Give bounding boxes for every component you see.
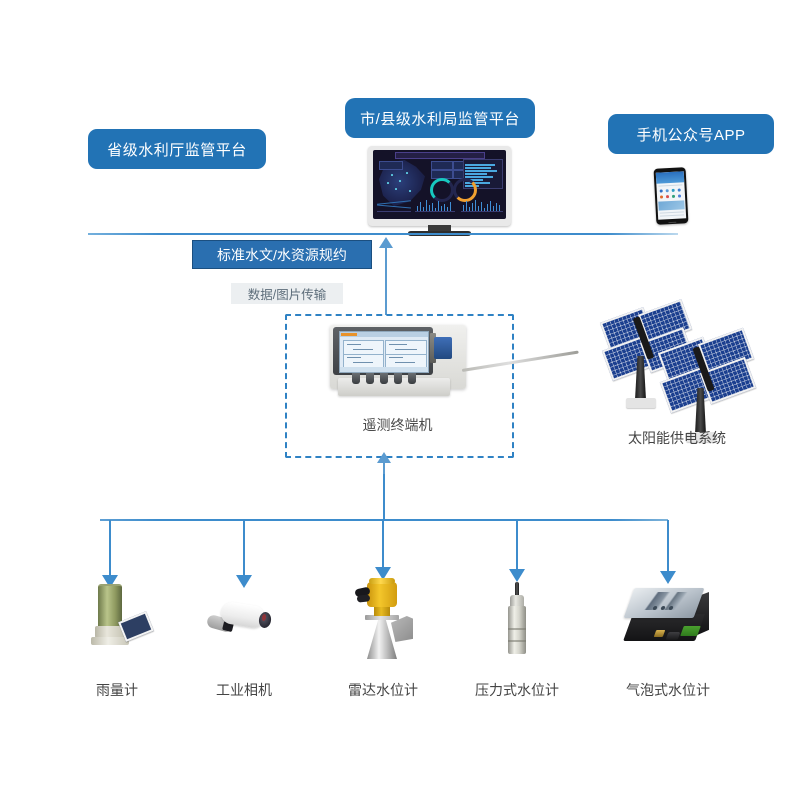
- branch-arrow-pressure: [509, 520, 525, 582]
- network-backbone-line: [88, 233, 678, 235]
- branch-arrow-bubble: [660, 520, 676, 584]
- dashboard-header-bar: [395, 152, 485, 159]
- rtu-cable-gland: [408, 373, 416, 384]
- camera-icon: [205, 600, 283, 648]
- rtu-caption: 遥测终端机: [285, 415, 510, 435]
- platform-box-app[interactable]: 手机公众号APP: [608, 114, 774, 154]
- rtu-cable-gland: [394, 373, 402, 384]
- branch-arrow-camera: [236, 520, 252, 588]
- device-caption-pressure: 压力式水位计: [447, 680, 587, 700]
- protocol-primary-label: 标准水文/水资源规约: [217, 245, 347, 265]
- sensor-to-rtu-arrow: [377, 452, 391, 474]
- device-caption-bubble: 气泡式水位计: [598, 680, 738, 700]
- protocol-label-box: 标准水文/水资源规约: [192, 240, 372, 269]
- sparkline-left: [377, 198, 411, 212]
- device-caption-rain-gauge: 雨量计: [47, 680, 187, 700]
- monitor-icon: [368, 146, 511, 234]
- bubble-unit-icon: [625, 586, 713, 648]
- smartphone-icon: [654, 167, 689, 225]
- rtu-cable-gland: [352, 373, 360, 384]
- protocol-sub-label-box: 数据/图片传输: [231, 283, 343, 304]
- rain-gauge-icon: [82, 584, 152, 652]
- phone-home-indicator: [668, 221, 676, 223]
- branch-arrow-rain-gauge: [102, 520, 118, 588]
- platform-label-city: 市/县级水利局监管平台: [360, 108, 520, 129]
- platform-label-app: 手机公众号APP: [636, 124, 745, 145]
- pressure-probe-icon: [500, 582, 534, 656]
- device-caption-radar: 雷达水位计: [313, 680, 453, 700]
- platform-label-provincial: 省级水利厅监管平台: [107, 139, 247, 160]
- rtu-cable-gland: [380, 373, 388, 384]
- platform-box-provincial[interactable]: 省级水利厅监管平台: [88, 129, 266, 169]
- rtu-cable-gland: [366, 373, 374, 384]
- rtu-lcd-screen: [339, 331, 429, 373]
- rtu-device-icon: [330, 325, 466, 397]
- solar-caption: 太阳能供电系统: [592, 428, 762, 448]
- sparkline-mid: [415, 198, 455, 212]
- device-caption-camera: 工业相机: [174, 680, 314, 700]
- platform-box-city[interactable]: 市/县级水利局监管平台: [345, 98, 535, 138]
- protocol-secondary-label: 数据/图片传输: [248, 284, 326, 303]
- phone-banner: [656, 171, 685, 183]
- uplink-arrow: [379, 237, 393, 315]
- phone-screen: [656, 171, 686, 219]
- branch-arrow-radar: [375, 520, 391, 580]
- rtu-connector-port: [434, 337, 452, 359]
- diagram-canvas: 省级水利厅监管平台 市/县级水利局监管平台 手机公众号APP: [0, 0, 800, 800]
- radar-level-icon: [345, 578, 421, 662]
- sparkline-right: [461, 198, 503, 212]
- dashboard-screen: [373, 150, 506, 219]
- rain-gauge-solar-panel: [118, 611, 154, 642]
